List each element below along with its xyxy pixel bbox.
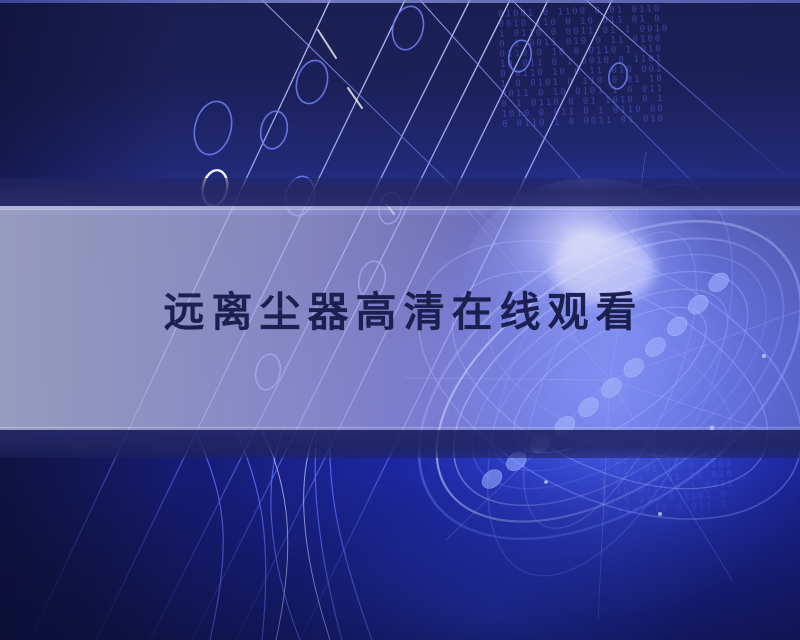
headline-text: 远离尘器高清在线观看 bbox=[0, 286, 800, 338]
caption-band-bottom-bar bbox=[0, 430, 800, 458]
top-hairline-divider bbox=[0, 0, 800, 3]
banner-image: 01001 0 1100 0 01 0110 0010 110 0 10 011… bbox=[0, 0, 800, 640]
caption-band-top-bar bbox=[0, 178, 800, 207]
